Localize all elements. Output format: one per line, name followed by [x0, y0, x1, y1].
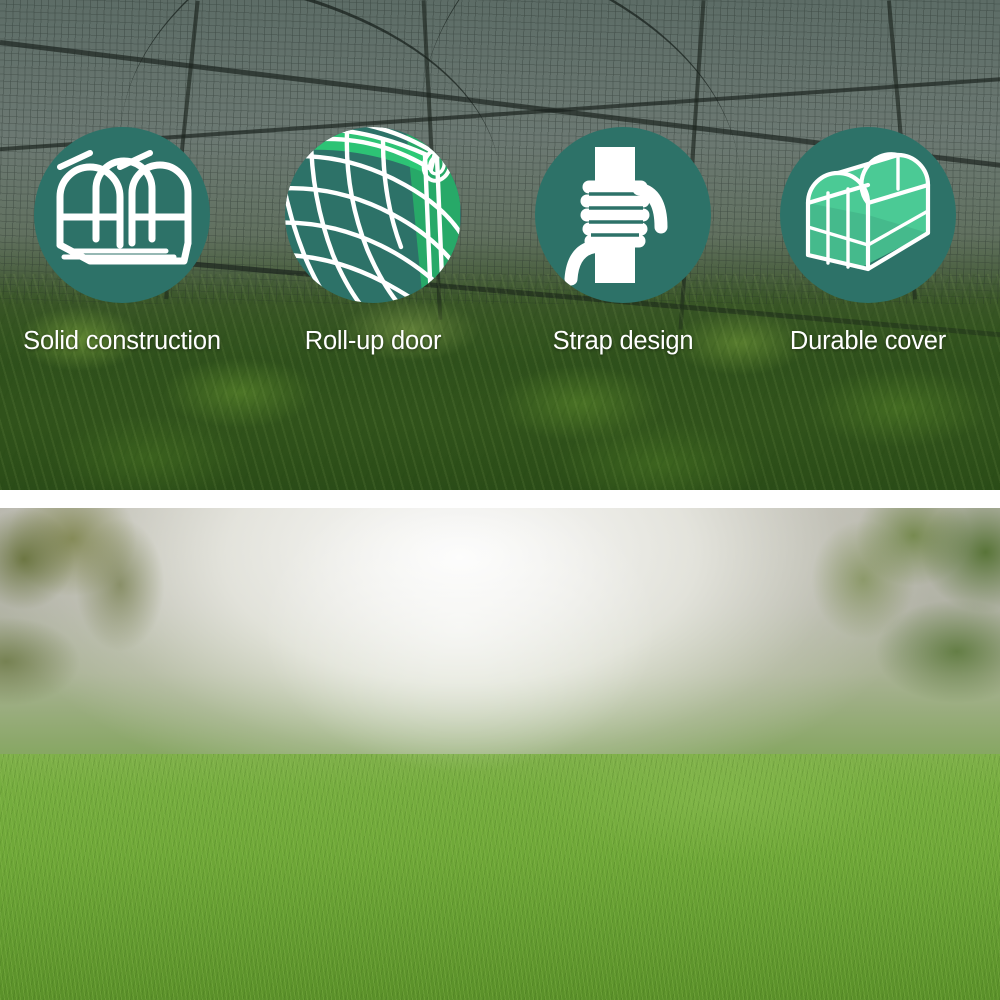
product-hero-panel: Unshakeable confidence Made from galvani…	[0, 508, 1000, 1000]
feature-label: Roll-up door	[248, 327, 498, 356]
section-divider	[0, 490, 1000, 508]
feature-icon-badge	[34, 127, 210, 303]
strap-wrapped-pole-icon	[535, 127, 711, 303]
feature-icon-badge	[780, 127, 956, 303]
feature-icon-badge	[535, 127, 711, 303]
feature-item-solid-construction: Solid construction	[0, 127, 247, 356]
feature-label: Durable cover	[743, 327, 993, 356]
feature-list: Solid construction	[0, 0, 1000, 490]
feature-label: Solid construction	[0, 327, 247, 356]
lawn	[0, 754, 1000, 1000]
feature-item-roll-up-door: Roll-up door	[248, 127, 498, 356]
roll-up-door-mesh-icon	[285, 127, 461, 303]
features-panel: Solid construction	[0, 0, 1000, 490]
covered-tunnel-greenhouse-icon	[780, 127, 956, 303]
feature-item-strap-design: Strap design	[498, 127, 748, 356]
greenhouse-frame-icon	[34, 127, 210, 303]
feature-label: Strap design	[498, 327, 748, 356]
product-marketing-image: Solid construction	[0, 0, 1000, 1000]
feature-icon-badge	[285, 127, 461, 303]
feature-item-durable-cover: Durable cover	[743, 127, 993, 356]
